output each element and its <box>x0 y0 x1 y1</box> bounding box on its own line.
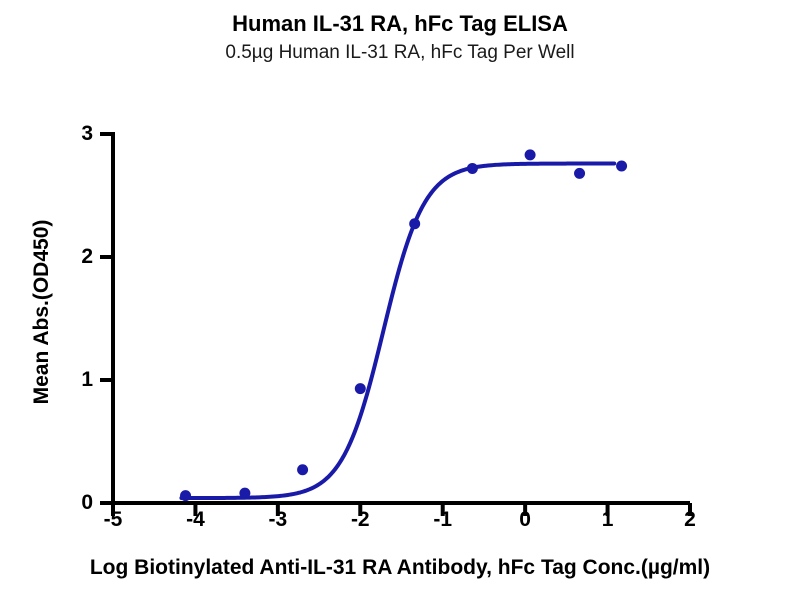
y-tick-label: 3 <box>66 122 100 146</box>
axes-group <box>100 132 690 516</box>
data-points-group <box>180 149 627 501</box>
y-tick-label: 2 <box>66 245 100 269</box>
data-point <box>525 149 536 160</box>
data-point <box>574 168 585 179</box>
x-tick-label: 2 <box>670 508 710 532</box>
chart-figure: Human IL-31 RA, hFc Tag ELISA 0.5µg Huma… <box>0 0 800 600</box>
y-tick-label: 1 <box>66 368 100 392</box>
data-point <box>180 490 191 501</box>
data-point <box>616 160 627 171</box>
y-tick-label: 0 <box>66 491 100 515</box>
x-axis-title: Log Biotinylated Anti-IL-31 RA Antibody,… <box>0 556 800 580</box>
data-point <box>355 383 366 394</box>
fit-curve-line <box>181 164 614 499</box>
x-tick-label: 1 <box>588 508 628 532</box>
x-tick-label: -3 <box>258 508 298 532</box>
data-point <box>297 464 308 475</box>
y-axis-title: Mean Abs.(OD450) <box>30 162 54 462</box>
data-point <box>409 218 420 229</box>
x-tick-label: -1 <box>423 508 463 532</box>
data-point <box>467 163 478 174</box>
x-tick-label: 0 <box>505 508 545 532</box>
data-point <box>239 488 250 499</box>
x-tick-label: -2 <box>340 508 380 532</box>
x-tick-label: -4 <box>175 508 215 532</box>
